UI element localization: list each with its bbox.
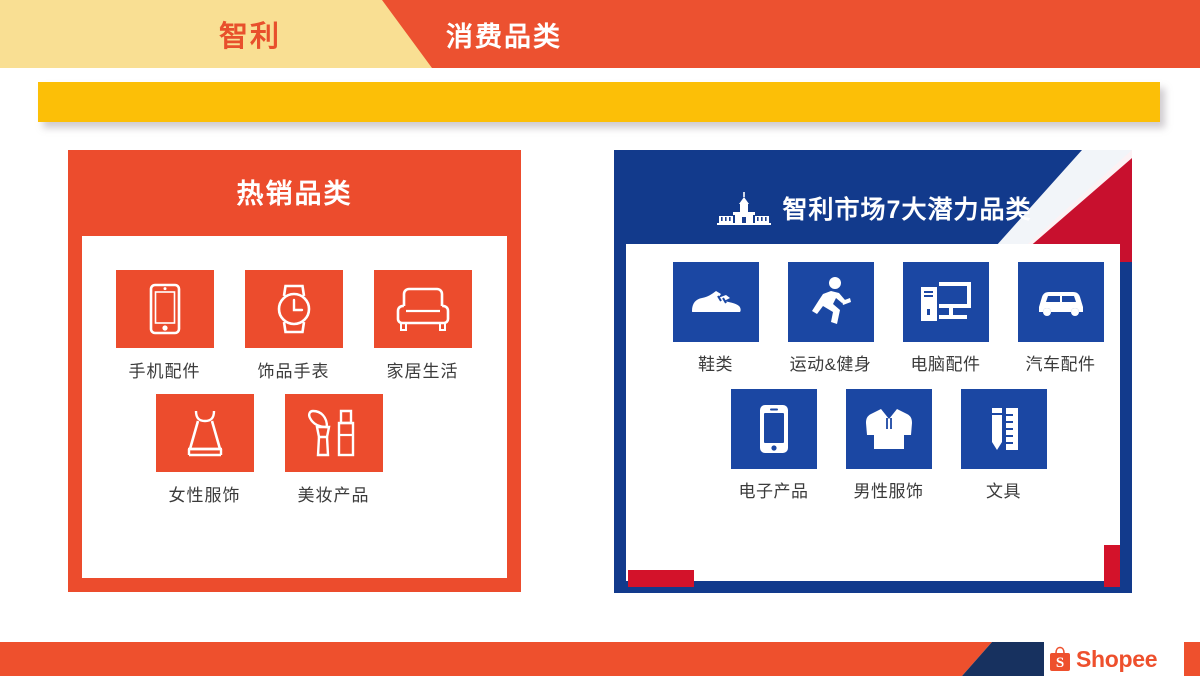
- potential-categories-row: 鞋类 运动&健身: [626, 262, 1120, 375]
- category-label: 鞋类: [698, 350, 733, 375]
- category-tile: [788, 262, 874, 342]
- smartphone-icon: [148, 283, 182, 335]
- category-label: 男性服饰: [854, 477, 924, 502]
- category-item-electronics[interactable]: 电子产品: [716, 389, 831, 502]
- page-title-country: 智利: [120, 0, 380, 68]
- page-title-section: 消费品类: [446, 0, 562, 68]
- hot-categories-row: 手机配件 饰品手表: [82, 270, 507, 382]
- category-label: 电子产品: [739, 477, 809, 502]
- shopee-bag-icon: S: [1048, 646, 1072, 672]
- footer-orange-block-right: [1184, 642, 1200, 676]
- category-item-womens-fashion[interactable]: 女性服饰: [140, 394, 269, 506]
- category-item-home-living[interactable]: 家居生活: [358, 270, 487, 382]
- category-label: 运动&健身: [790, 350, 872, 375]
- page-header: 智利 消费品类: [0, 0, 1200, 68]
- category-item-phone-accessories[interactable]: 手机配件: [100, 270, 229, 382]
- hot-categories-card: 热销品类 手机配件: [68, 150, 521, 592]
- shopee-logo: S Shopee: [1048, 643, 1157, 675]
- running-person-icon: [809, 276, 853, 328]
- shoe-icon: [688, 285, 744, 319]
- shopee-wordmark: Shopee: [1076, 646, 1157, 673]
- category-tile: [116, 270, 214, 348]
- category-item-jewelry-watch[interactable]: 饰品手表: [229, 270, 358, 382]
- category-label: 美妆产品: [298, 481, 370, 506]
- makeup-icon: [305, 405, 363, 461]
- footer-orange-band: [0, 642, 992, 676]
- hot-categories-panel: 手机配件 饰品手表: [82, 236, 507, 578]
- category-label: 手机配件: [129, 357, 201, 382]
- armchair-icon: [394, 284, 452, 334]
- category-label: 家居生活: [387, 357, 459, 382]
- category-label: 女性服饰: [169, 481, 241, 506]
- shirt-icon: [863, 405, 915, 453]
- dress-icon: [180, 405, 230, 461]
- category-tile: [1018, 262, 1104, 342]
- red-bar-bottom-left: [628, 570, 694, 587]
- category-label: 饰品手表: [258, 357, 330, 382]
- category-item-mens-fashion[interactable]: 男性服饰: [831, 389, 946, 502]
- capitol-building-icon: [715, 191, 773, 225]
- category-tile: [961, 389, 1047, 469]
- page-footer: S Shopee: [0, 642, 1200, 676]
- category-tile: [903, 262, 989, 342]
- hot-categories-grid: 手机配件 饰品手表: [82, 270, 507, 506]
- category-item-computer-accessories[interactable]: 电脑配件: [888, 262, 1003, 375]
- category-item-beauty-products[interactable]: 美妆产品: [269, 394, 398, 506]
- category-item-sports-fitness[interactable]: 运动&健身: [773, 262, 888, 375]
- car-icon: [1033, 285, 1089, 319]
- potential-categories-card: 智利市场7大潜力品类 鞋类: [614, 150, 1132, 593]
- category-tile: [374, 270, 472, 348]
- hot-categories-title: 热销品类: [68, 172, 521, 211]
- category-label: 汽车配件: [1026, 350, 1096, 375]
- category-tile: [673, 262, 759, 342]
- category-tile: [285, 394, 383, 472]
- pencil-ruler-icon: [984, 404, 1024, 454]
- category-item-auto-accessories[interactable]: 汽车配件: [1003, 262, 1118, 375]
- category-tile: [245, 270, 343, 348]
- mobile-phone-icon: [757, 403, 791, 455]
- highlight-banner: [38, 82, 1160, 122]
- potential-categories-row: 电子产品 男性服饰: [626, 389, 1120, 502]
- potential-categories-panel: 鞋类 运动&健身: [626, 244, 1120, 581]
- category-label: 文具: [986, 477, 1021, 502]
- category-label: 电脑配件: [911, 350, 981, 375]
- category-item-shoes[interactable]: 鞋类: [658, 262, 773, 375]
- category-item-stationery[interactable]: 文具: [946, 389, 1061, 502]
- category-tile: [156, 394, 254, 472]
- desktop-computer-icon: [919, 279, 973, 325]
- category-tile: [731, 389, 817, 469]
- red-bar-bottom-right: [1104, 545, 1120, 587]
- watch-icon: [270, 282, 318, 336]
- svg-text:S: S: [1056, 655, 1064, 671]
- category-tile: [846, 389, 932, 469]
- potential-categories-title-row: 智利市场7大潜力品类: [614, 190, 1132, 226]
- hot-categories-row: 女性服饰: [82, 394, 507, 506]
- potential-categories-title: 智利市场7大潜力品类: [783, 190, 1032, 226]
- potential-categories-grid: 鞋类 运动&健身: [626, 262, 1120, 502]
